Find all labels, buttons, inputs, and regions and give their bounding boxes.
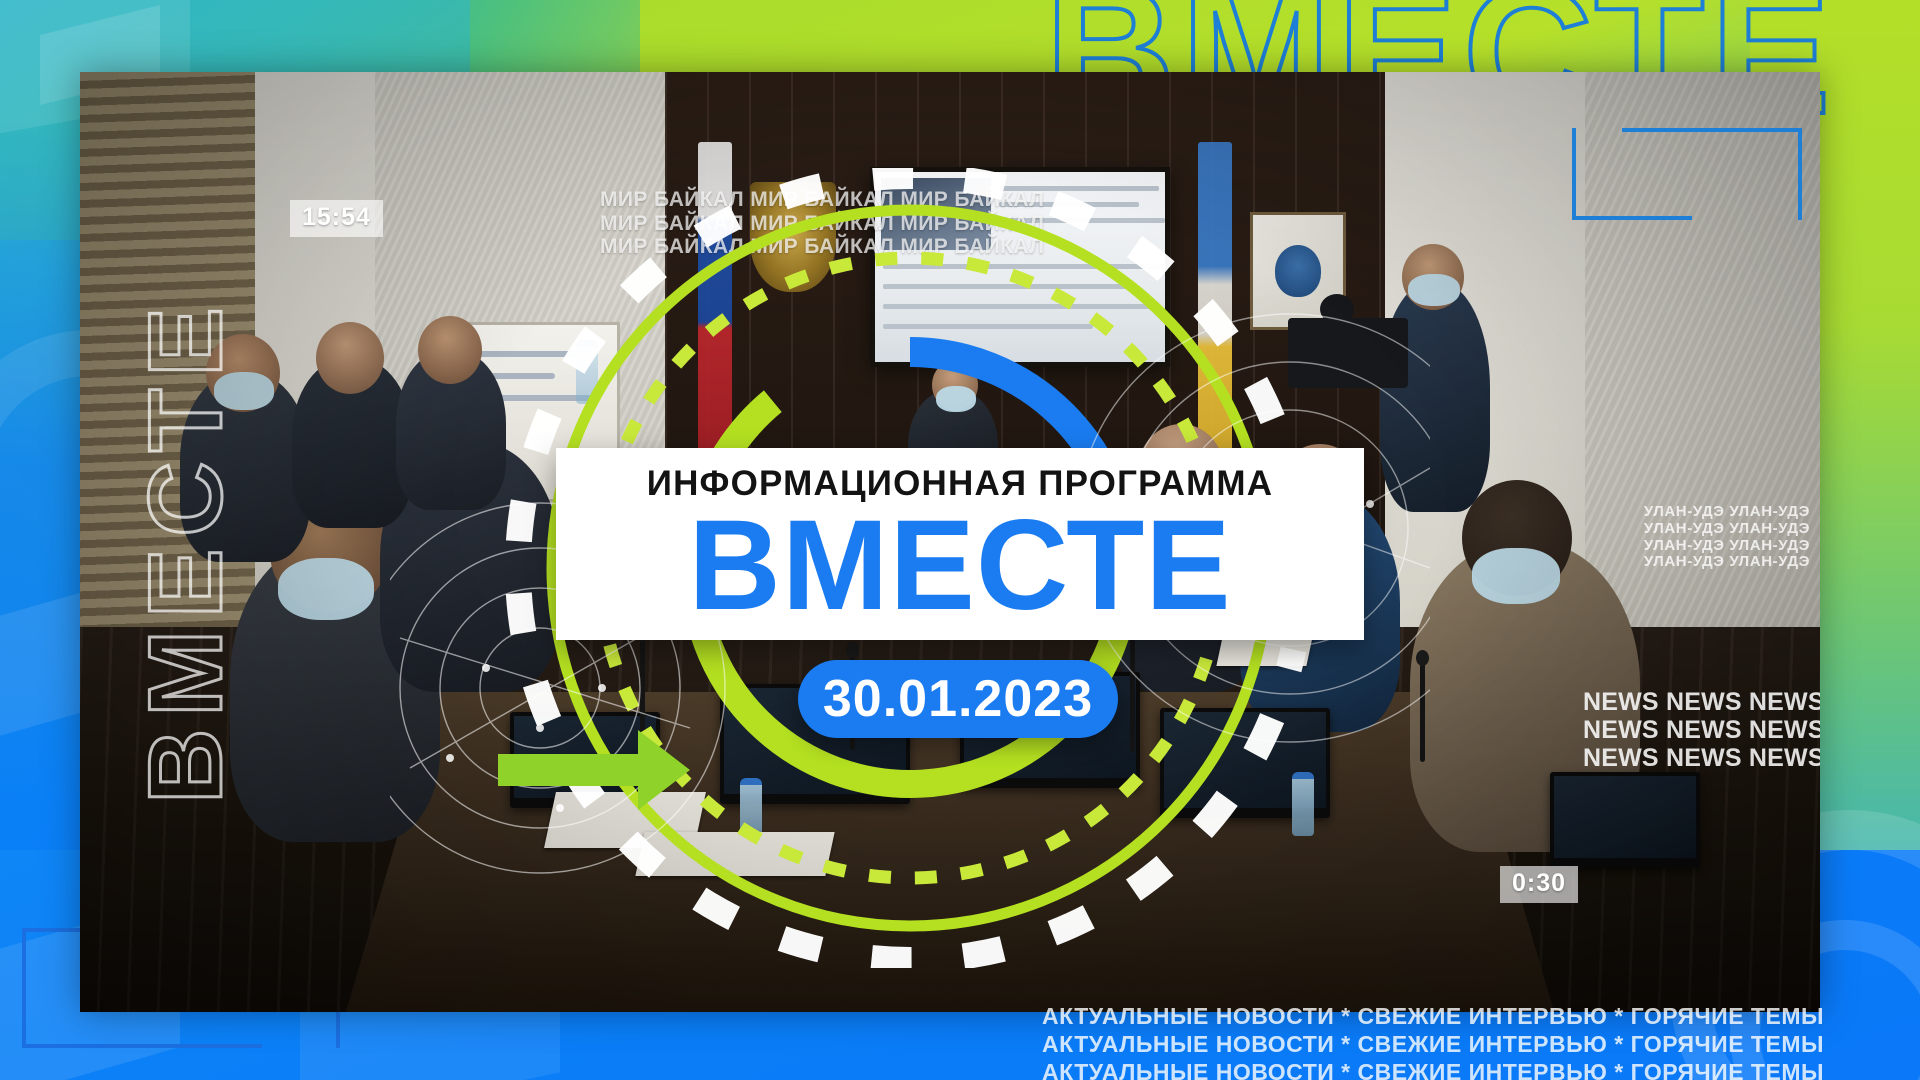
timecode-remaining: 0:30 (1500, 866, 1578, 903)
broadcast-title-card: ВМЕСТЕ (0, 0, 1920, 1080)
timecode-elapsed: 15:54 (290, 200, 383, 237)
title-card: ИНФОРМАЦИОННАЯ ПРОГРАММА ВМЕСТЕ (556, 448, 1364, 640)
date-badge: 30.01.2023 (798, 660, 1118, 738)
date-badge-label: 30.01.2023 (823, 669, 1093, 729)
program-title: ВМЕСТЕ (688, 506, 1231, 625)
decor-bracket-top-right-2 (1572, 128, 1692, 220)
